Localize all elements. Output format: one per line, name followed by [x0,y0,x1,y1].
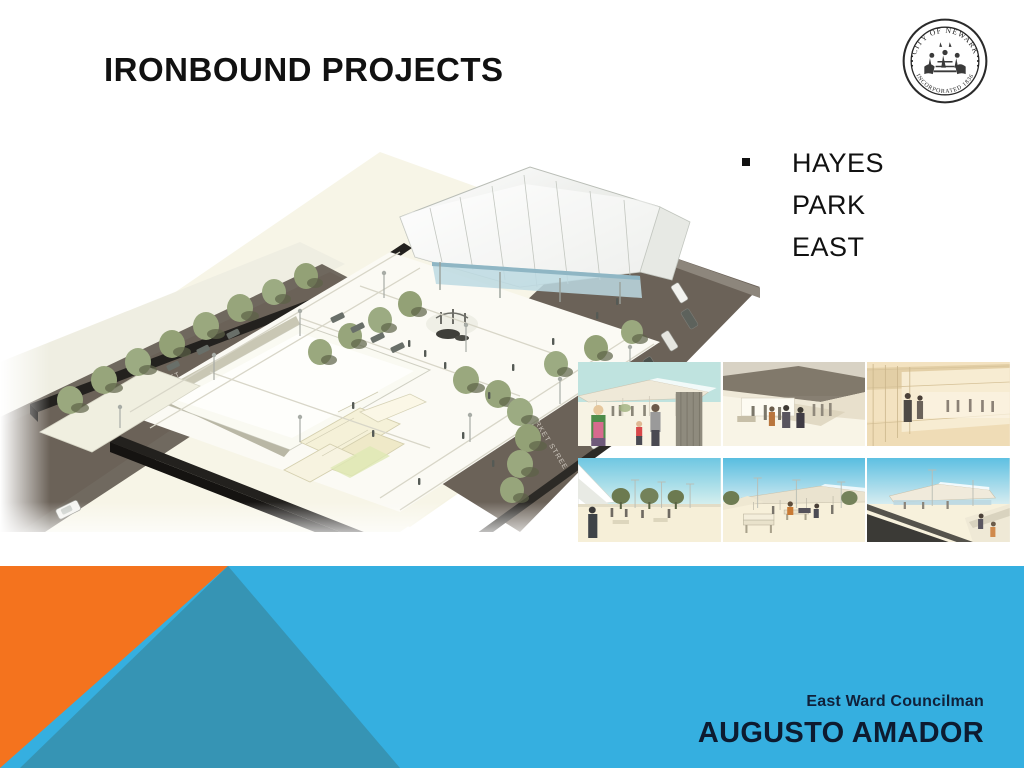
councilman-name: AUGUSTO AMADOR [698,717,984,750]
thumbnail-pavilion-distant-view [867,458,1010,542]
photo-strip-top [578,362,1010,446]
footer-credit: East Ward Councilman AUGUSTO AMADOR [698,693,984,750]
thumbnail-plaza-with-trees [578,458,721,542]
photo-strip-bottom [578,458,1010,542]
thumbnail-pavilion-with-family [578,362,721,446]
bullet-text-lines: HAYES PARK EAST [764,142,884,268]
presentation-slide: IRONBOUND PROJECTS CITY OF NEWARK INCORP… [0,0,1024,768]
bullet-line-east: EAST [792,226,884,268]
page-title: IRONBOUND PROJECTS [104,51,504,89]
thumbnail-pavilion-with-benches [723,458,866,542]
bullet-line-park: PARK [792,184,884,226]
footer-band: East Ward Councilman AUGUSTO AMADOR [0,566,1024,768]
thumbnail-pavilion-exterior-plaza [723,362,866,446]
city-of-newark-seal: CITY OF NEWARK INCORPORATED 1836 [898,14,992,108]
thumbnail-interior-corridor [867,362,1010,446]
bullet-line-hayes: HAYES [792,142,884,184]
bullet-list: HAYES PARK EAST [742,142,992,268]
councilman-role: East Ward Councilman [698,693,984,711]
